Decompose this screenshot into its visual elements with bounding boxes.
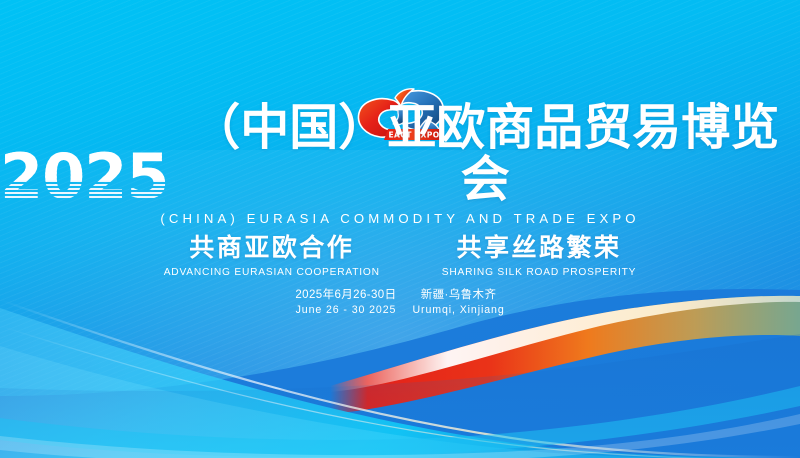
slogan-right: 共享丝路繁荣 SHARING SILK ROAD PROSPERITY (442, 228, 637, 278)
slogan-left-cn: 共商亚欧合作 (164, 228, 380, 264)
slogan-block: 共商亚欧合作 ADVANCING EURASIAN COOPERATION 共享… (0, 228, 800, 278)
headline-year: 2025 (0, 148, 171, 206)
place-cn: 新疆·乌鲁木齐 (412, 288, 504, 303)
place-group: 新疆·乌鲁木齐 Urumqi, Xinjiang (412, 288, 504, 318)
slogan-left-en: ADVANCING EURASIAN COOPERATION (164, 267, 380, 278)
headline-en-title: (CHINA) EURASIA COMMODITY AND TRADE EXPO (0, 211, 800, 226)
date-place-block: 2025年6月26-30日 June 26 - 30 2025 新疆·乌鲁木齐 … (0, 288, 800, 318)
headline-block: 2025 （中国）亚欧商品贸易博览会 (CHINA) EURASIA COMMO… (0, 146, 800, 226)
headline-row: 2025 （中国）亚欧商品贸易博览会 (0, 146, 800, 206)
date-en: June 26 - 30 2025 (295, 303, 396, 318)
date-cn: 2025年6月26-30日 (295, 288, 396, 303)
slogan-right-cn: 共享丝路繁荣 (442, 228, 637, 264)
headline-cn-title: （中国）亚欧商品贸易博览会 (171, 102, 800, 206)
slogan-left: 共商亚欧合作 ADVANCING EURASIAN COOPERATION (164, 228, 380, 278)
expo-poster: EACT EXPO 2025 （中国）亚欧商品贸易博览会 (CHINA) EUR… (0, 0, 800, 458)
place-en: Urumqi, Xinjiang (412, 303, 504, 318)
slogan-right-en: SHARING SILK ROAD PROSPERITY (442, 267, 637, 278)
date-group: 2025年6月26-30日 June 26 - 30 2025 (295, 288, 396, 318)
